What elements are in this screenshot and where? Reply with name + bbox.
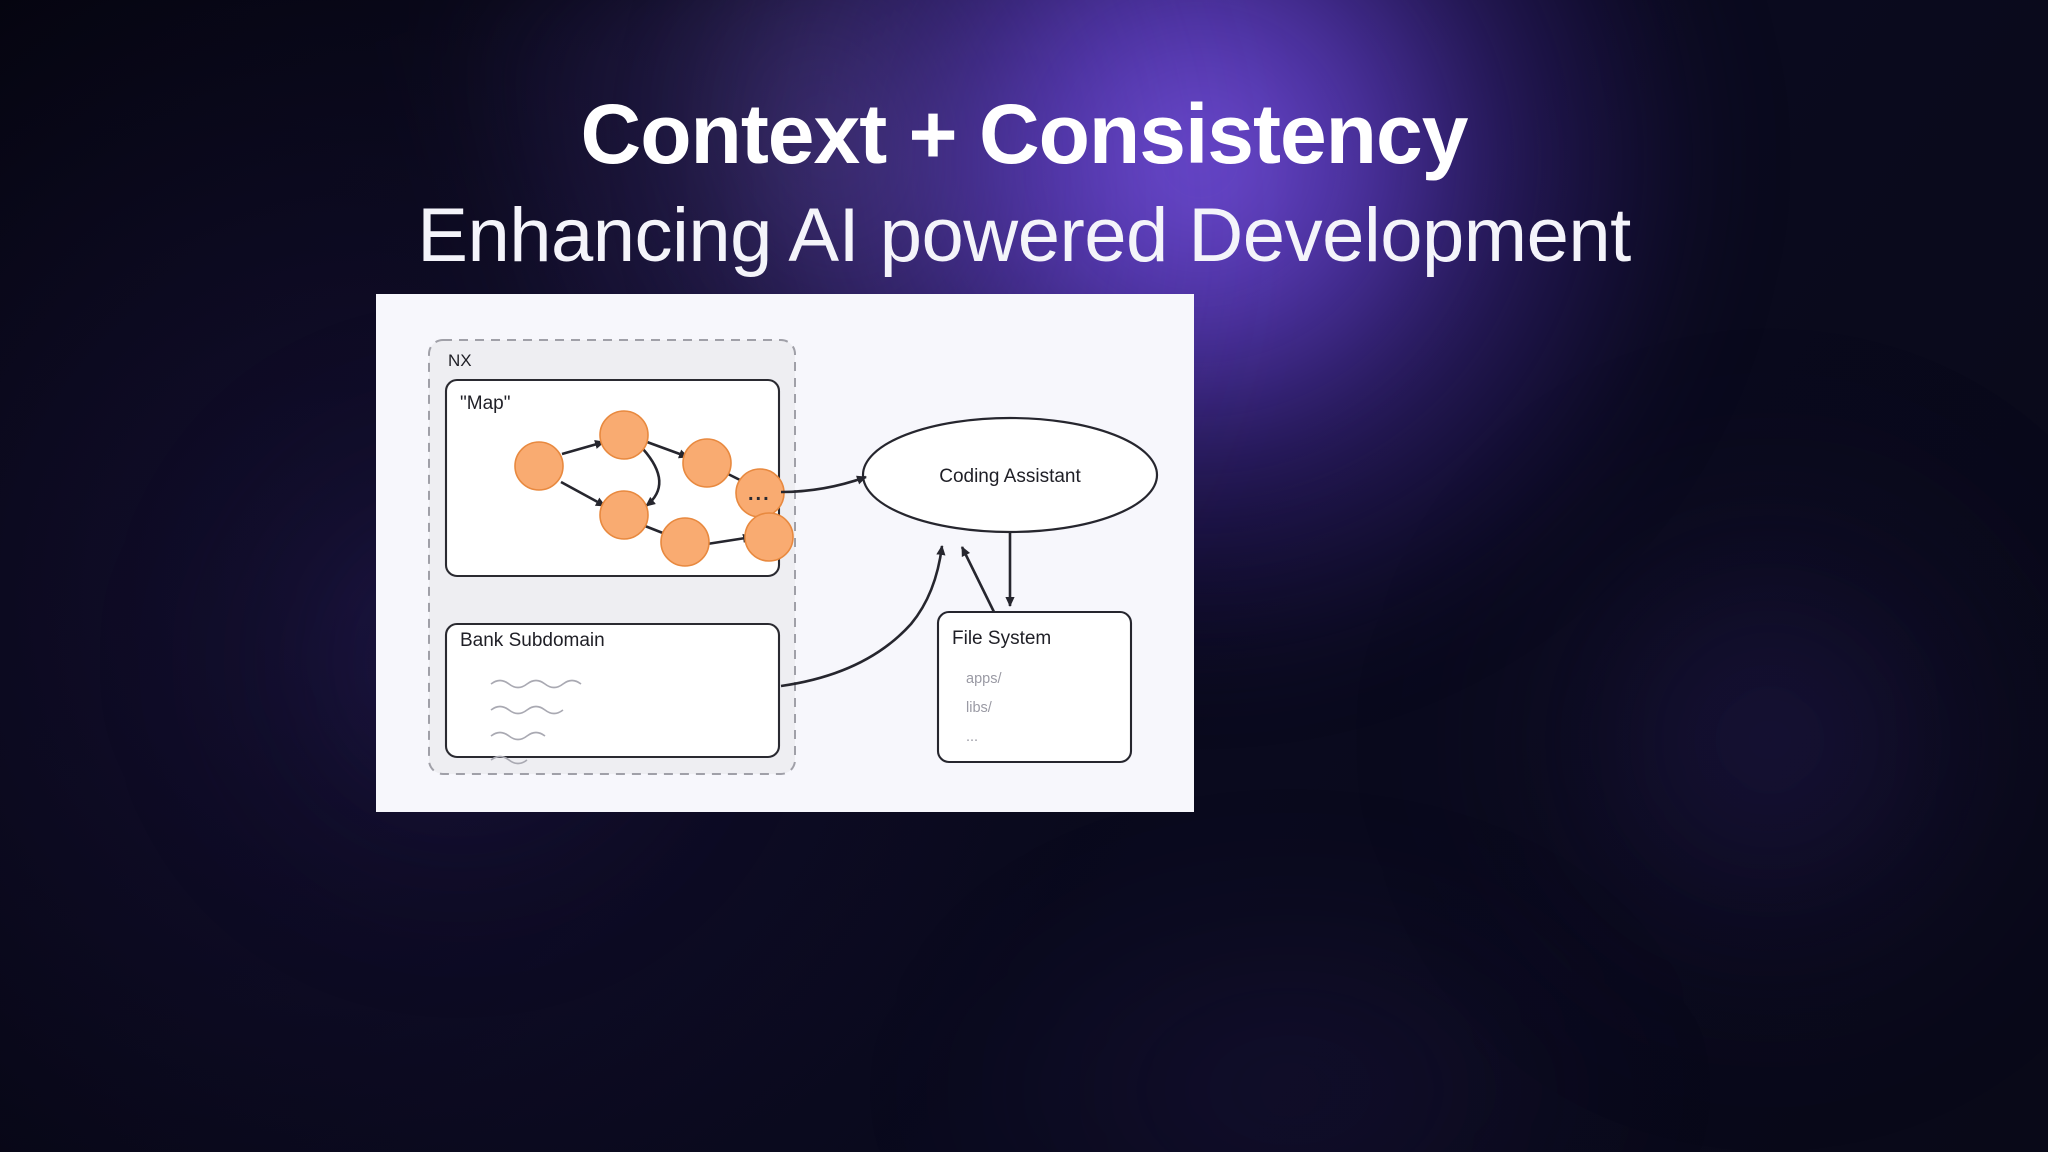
- slide-subtitle: Enhancing AI powered Development: [0, 198, 2048, 274]
- map-box[interactable]: "Map": [446, 380, 793, 576]
- slide-canvas: Context + Consistency Enhancing AI power…: [0, 0, 2048, 1152]
- coding-assistant-label: Coding Assistant: [939, 466, 1081, 487]
- graph-node-6[interactable]: [661, 518, 709, 566]
- file-system-entry-apps: apps/: [966, 671, 1002, 687]
- graph-node-5[interactable]: [600, 491, 648, 539]
- file-system-box[interactable]: File System apps/ libs/ ...: [938, 612, 1131, 762]
- nx-label: NX: [448, 351, 472, 370]
- graph-node-3[interactable]: [683, 439, 731, 487]
- file-system-entry-more: ...: [966, 729, 978, 745]
- graph-node-2[interactable]: [600, 411, 648, 459]
- slide-title: Context + Consistency: [0, 92, 2048, 176]
- title-block: Context + Consistency Enhancing AI power…: [0, 92, 2048, 274]
- map-graph-ellipsis: ...: [748, 483, 771, 505]
- coding-assistant-node[interactable]: Coding Assistant: [863, 418, 1157, 532]
- bank-subdomain-box[interactable]: Bank Subdomain: [446, 624, 779, 764]
- graph-node-7[interactable]: [745, 513, 793, 561]
- diagram-panel: NX "Map": [376, 294, 1194, 812]
- file-system-label: File System: [952, 628, 1051, 649]
- map-box-label: "Map": [460, 393, 510, 414]
- file-system-entry-libs: libs/: [966, 700, 993, 716]
- bank-subdomain-label: Bank Subdomain: [460, 630, 605, 651]
- graph-node-1[interactable]: [515, 442, 563, 490]
- architecture-diagram: NX "Map": [376, 294, 1194, 812]
